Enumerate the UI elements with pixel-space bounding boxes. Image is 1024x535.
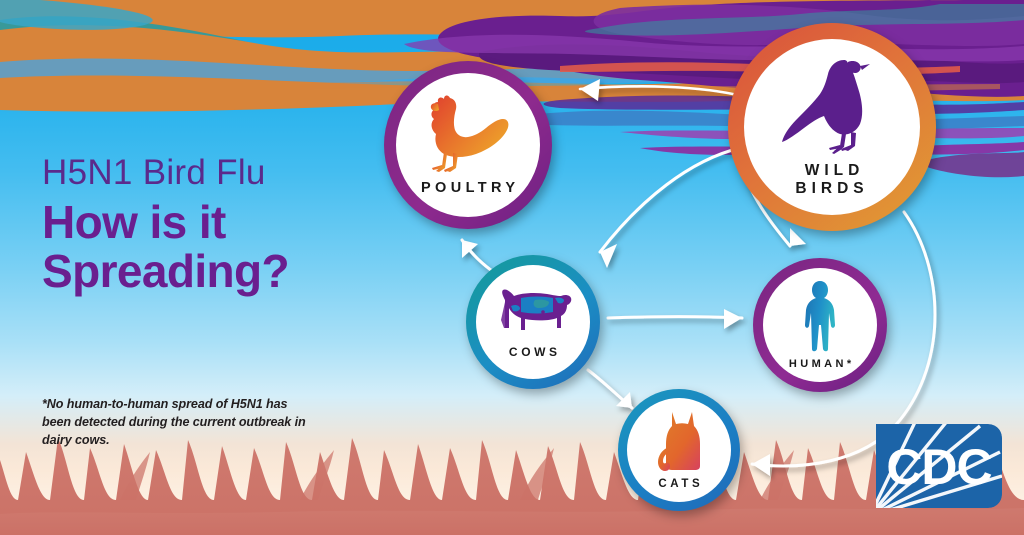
cdc-logo[interactable]: CDC (876, 424, 1002, 508)
cows-inner: COWS (476, 265, 590, 379)
footnote-text: *No human-to-human spread of H5N1 has be… (42, 396, 307, 450)
node-wild-birds[interactable]: WILD BIRDS (727, 22, 937, 232)
arrow-cows-to-human (608, 309, 742, 329)
cow-icon (491, 284, 575, 340)
page-title-line1: H5N1 Bird Flu (42, 155, 289, 192)
arrow-wildbirds-to-poultry (580, 79, 742, 101)
human-inner: HUMAN* (763, 268, 877, 382)
poultry-inner: POULTRY (396, 73, 540, 217)
wild-birds-label-line1: WILD (805, 162, 865, 179)
page-title-line2: How is it (42, 198, 289, 248)
title-block: H5N1 Bird Flu How is it Spreading? (42, 155, 289, 297)
cat-icon (650, 408, 708, 474)
wild-bird-icon (778, 56, 886, 158)
arrow-wildbirds-to-cows (600, 148, 740, 268)
cats-inner: CATS (627, 398, 731, 502)
cdc-logo-text: CDC (886, 439, 991, 495)
cats-label: CATS (655, 478, 703, 492)
wild-birds-inner: WILD BIRDS (744, 39, 920, 215)
human-label: HUMAN* (785, 358, 854, 371)
chicken-icon (420, 92, 516, 174)
infographic-canvas: H5N1 Bird Flu How is it Spreading? *No h… (0, 0, 1024, 535)
node-human[interactable]: HUMAN* (752, 257, 888, 393)
cows-label: COWS (505, 345, 560, 359)
arrow-cows-to-cats (588, 370, 632, 408)
node-poultry[interactable]: POULTRY (383, 60, 553, 230)
human-icon (800, 279, 840, 353)
page-title-line3: Spreading? (42, 247, 289, 297)
node-cats[interactable]: CATS (617, 388, 741, 512)
poultry-label: POULTRY (417, 180, 520, 197)
wild-birds-label-line2: BIRDS (795, 180, 868, 197)
node-cows[interactable]: COWS (465, 254, 601, 390)
wild-birds-label: WILD BIRDS (795, 162, 868, 199)
